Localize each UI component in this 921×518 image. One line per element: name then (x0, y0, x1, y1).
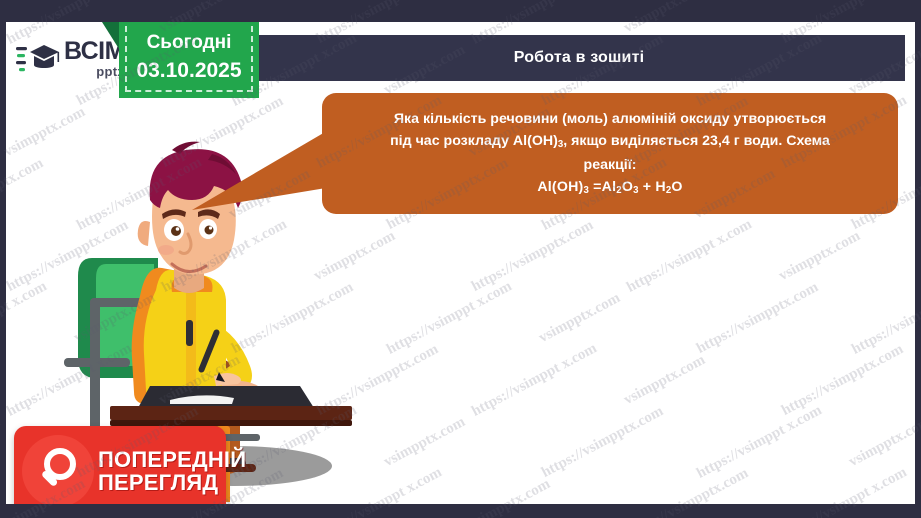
formula-p4: + H (639, 179, 666, 195)
formula-p5: O (671, 179, 682, 195)
head (138, 142, 243, 275)
magnifier-icon (22, 435, 94, 504)
question-line-3: реакції: (584, 157, 637, 173)
preview-badge-line2: ПЕРЕГЛЯД (98, 471, 246, 494)
speech-bubble: Яка кількість речовини (моль) алюміній о… (322, 93, 898, 214)
question-line-2b: , якщо виділяється 23,4 г води. Схема (563, 133, 830, 149)
logo-sub-text: pptx (64, 65, 125, 78)
slide-stage: ВСІМ pptx Сьогодні 03.10.2025 Робота в з… (0, 0, 921, 518)
today-badge: Сьогодні 03.10.2025 (119, 22, 259, 98)
question-line-2a: під час розкладу Al(OH) (390, 133, 558, 149)
ear (138, 221, 150, 246)
question-line-1: Яка кількість речовини (моль) алюміній о… (394, 111, 826, 127)
formula-p3: O (622, 179, 633, 195)
preview-badge-line1: ПОПЕРЕДНІЙ (98, 448, 246, 471)
logo-wordmark: ВСІМ pptx (64, 39, 125, 78)
watermark-text: vsimpptx.com (0, 42, 3, 99)
slide-canvas: ВСІМ pptx Сьогодні 03.10.2025 Робота в з… (6, 22, 915, 504)
formula-p2: =Al (589, 179, 616, 195)
today-badge-label: Сьогодні (119, 30, 259, 56)
today-badge-date: 03.10.2025 (119, 56, 259, 86)
graduation-cap-icon (16, 38, 60, 78)
zipper-pull (186, 320, 193, 346)
formula-p1: Al(OH) (537, 179, 583, 195)
desk-top (110, 406, 352, 420)
reaction-formula: Al(OH)3 =Al2O3 + H2O (537, 179, 682, 195)
formula-s3: 3 (633, 185, 639, 196)
section-header-bar: Робота в зошиті (253, 35, 905, 81)
watermark-text: vsimpptx.com (0, 414, 3, 471)
preview-badge[interactable]: ПОПЕРЕДНІЙ ПЕРЕГЛЯД (14, 426, 226, 504)
question-line-2-sub: 3 (558, 139, 563, 150)
page-title: Робота в зошиті (514, 49, 645, 67)
task-question-text: Яка кількість речовини (моль) алюміній о… (322, 108, 898, 200)
formula-s2: 2 (616, 185, 622, 196)
formula-s1: 3 (583, 185, 589, 196)
formula-s4: 2 (666, 185, 672, 196)
